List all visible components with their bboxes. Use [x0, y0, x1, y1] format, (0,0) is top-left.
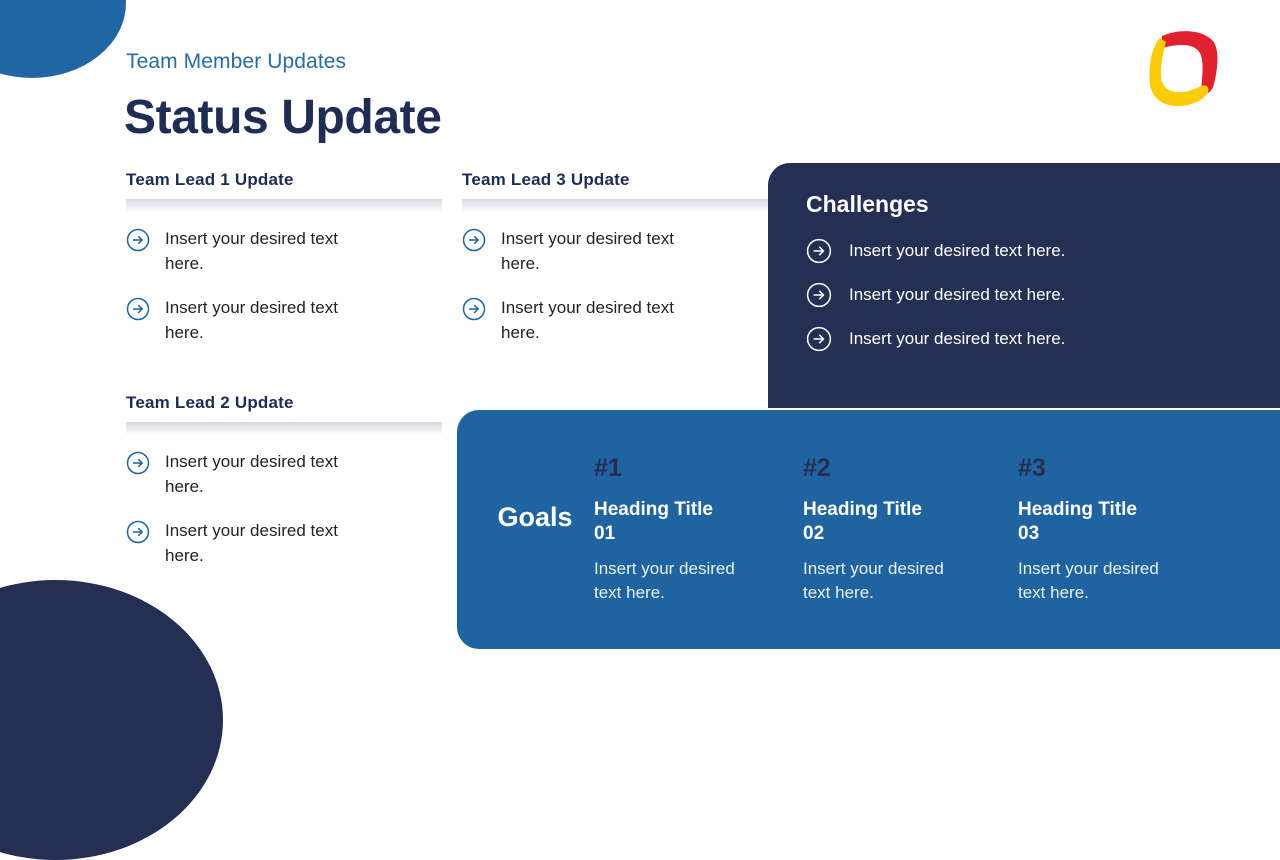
list-item: Insert your desired text here.: [462, 295, 778, 345]
decorative-circle-bottom-left: [0, 580, 223, 860]
heading-divider: [462, 199, 778, 212]
list-item-text: Insert your desired text here.: [165, 226, 347, 276]
list-item: Insert your desired text here.: [126, 518, 442, 568]
goal-item-2: #2 Heading Title 02 Insert your desired …: [803, 456, 999, 606]
goal-body-text: Insert your desired text here.: [594, 557, 764, 605]
circle-arrow-right-icon: [126, 520, 150, 544]
goal-number: #1: [594, 456, 790, 481]
circle-arrow-right-icon: [806, 282, 832, 308]
team-lead-1-column: Team Lead 1 Update Insert your desired t…: [126, 170, 442, 346]
goal-number: #2: [803, 456, 999, 481]
column-heading: Team Lead 3 Update: [462, 170, 778, 199]
goal-item-1: #1 Heading Title 01 Insert your desired …: [594, 456, 790, 606]
goal-item-3: #3 Heading Title 03 Insert your desired …: [1018, 456, 1214, 606]
team-lead-3-column: Team Lead 3 Update Insert your desired t…: [462, 170, 778, 346]
column-heading: Team Lead 2 Update: [126, 393, 442, 422]
heading-divider: [126, 199, 442, 212]
column-heading: Team Lead 1 Update: [126, 170, 442, 199]
brand-logo-icon: [1140, 26, 1222, 110]
decorative-circle-top-left: [0, 0, 126, 78]
challenges-list-item-text: Insert your desired text here.: [849, 241, 1065, 261]
list-item: Insert your desired text here.: [126, 226, 442, 276]
challenges-list-item-text: Insert your desired text here.: [849, 285, 1065, 305]
list-item-text: Insert your desired text here.: [165, 295, 347, 345]
circle-arrow-right-icon: [806, 326, 832, 352]
list-item: Insert your desired text here.: [462, 226, 778, 276]
challenges-list-item: Insert your desired text here.: [806, 282, 1280, 308]
goal-number: #3: [1018, 456, 1214, 481]
goal-body-text: Insert your desired text here.: [1018, 557, 1188, 605]
team-lead-2-column: Team Lead 2 Update Insert your desired t…: [126, 393, 442, 569]
challenges-title: Challenges: [806, 191, 1280, 218]
list-item-text: Insert your desired text here.: [165, 449, 347, 499]
goals-label: Goals: [475, 502, 595, 533]
list-item-text: Insert your desired text here.: [501, 295, 683, 345]
challenges-list-item: Insert your desired text here.: [806, 326, 1280, 352]
list-item-text: Insert your desired text here.: [165, 518, 347, 568]
eyebrow-text: Team Member Updates: [126, 50, 346, 74]
goal-title: Heading Title 02: [803, 498, 923, 546]
goals-panel: Goals #1 Heading Title 01 Insert your de…: [457, 410, 1280, 649]
list-item: Insert your desired text here.: [126, 449, 442, 499]
circle-arrow-right-icon: [462, 228, 486, 252]
goal-title: Heading Title 03: [1018, 498, 1138, 546]
circle-arrow-right-icon: [462, 297, 486, 321]
goal-title: Heading Title 01: [594, 498, 714, 546]
page-title: Status Update: [124, 90, 442, 145]
challenges-panel: Challenges Insert your desired text here…: [768, 163, 1280, 408]
heading-divider: [126, 422, 442, 435]
circle-arrow-right-icon: [126, 228, 150, 252]
circle-arrow-right-icon: [126, 297, 150, 321]
challenges-list-item: Insert your desired text here.: [806, 238, 1280, 264]
circle-arrow-right-icon: [126, 451, 150, 475]
challenges-list-item-text: Insert your desired text here.: [849, 329, 1065, 349]
list-item: Insert your desired text here.: [126, 295, 442, 345]
circle-arrow-right-icon: [806, 238, 832, 264]
list-item-text: Insert your desired text here.: [501, 226, 683, 276]
goal-body-text: Insert your desired text here.: [803, 557, 973, 605]
